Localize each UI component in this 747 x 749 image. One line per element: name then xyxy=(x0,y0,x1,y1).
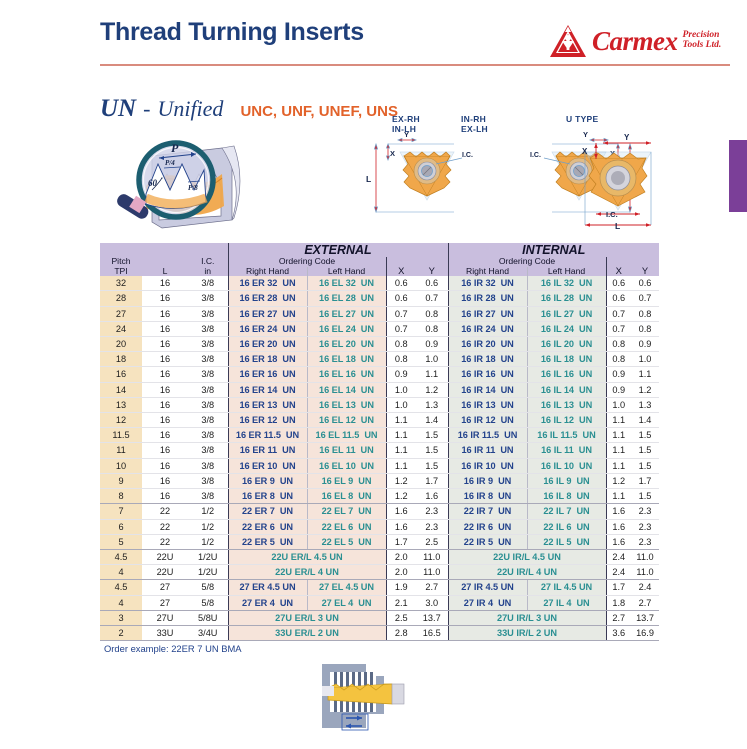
table-row: 24163/816 ER 24 UN16 EL 24 UN0.70.816 IR… xyxy=(100,321,659,336)
cell-external-left-hand: 22 EL 7 UN xyxy=(307,504,386,519)
standard-dash: - xyxy=(143,96,150,122)
table-row: 13163/816 ER 13 UN16 EL 13 UN1.01.316 IR… xyxy=(100,397,659,412)
cell-internal-y: 1.7 xyxy=(631,473,659,488)
col-header-ic: I.C. in xyxy=(188,243,228,276)
cell-internal-y: 0.6 xyxy=(631,276,659,291)
grooving-tool-holder-icon xyxy=(300,658,420,744)
cell-internal-x: 1.1 xyxy=(606,413,631,428)
cell-internal-x: 0.7 xyxy=(606,306,631,321)
cell-internal-x: 1.6 xyxy=(606,504,631,519)
cell-internal-left-hand: 16 IL 11.5 UN xyxy=(527,428,606,443)
cell-ic: 1/2 xyxy=(188,534,228,549)
table-row: 233U3/4U33U ER/L 2 UN2.816.533U IR/L 2 U… xyxy=(100,625,659,640)
svg-text:L: L xyxy=(366,174,371,184)
cell-internal-x: 2.4 xyxy=(606,549,631,564)
cell-pitch-tpi: 18 xyxy=(100,352,142,367)
cell-external-x: 0.6 xyxy=(386,291,416,306)
cell-external-right-hand: 16 ER 11.5 UN xyxy=(228,428,307,443)
cell-external-y: 0.8 xyxy=(416,321,448,336)
cell-internal-x: 0.9 xyxy=(606,367,631,382)
cell-external-ordering-code: 22U ER/L 4.5 UN xyxy=(228,549,386,564)
cell-internal-y: 0.9 xyxy=(631,337,659,352)
svg-text:P/4: P/4 xyxy=(165,159,175,167)
cell-external-x: 1.1 xyxy=(386,443,416,458)
cell-ic: 1/2U xyxy=(188,565,228,580)
cell-external-left-hand: 16 EL 13 UN xyxy=(307,397,386,412)
svg-text:°: ° xyxy=(161,178,163,183)
cell-internal-right-hand: 22 IR 5 UN xyxy=(448,534,527,549)
cell-internal-y: 1.2 xyxy=(631,382,659,397)
cell-internal-right-hand: 16 IR 16 UN xyxy=(448,367,527,382)
cell-external-left-hand: 16 EL 16 UN xyxy=(307,367,386,382)
cell-external-x: 0.8 xyxy=(386,337,416,352)
svg-text:60: 60 xyxy=(148,178,158,188)
order-example-note: Order example: 22ER 7 UN BMA xyxy=(104,643,242,654)
cell-external-y: 1.2 xyxy=(416,382,448,397)
table-row: 8163/816 ER 8 UN16 EL 8 UN1.21.616 IR 8 … xyxy=(100,489,659,504)
cell-external-left-hand: 16 EL 32 UN xyxy=(307,276,386,291)
table-row: 6221/222 ER 6 UN22 EL 6 UN1.62.322 IR 6 … xyxy=(100,519,659,534)
cell-l: 22 xyxy=(142,519,188,534)
diagram-1-title-line1: EX-RH xyxy=(392,114,420,124)
cell-internal-right-hand: 16 IR 13 UN xyxy=(448,397,527,412)
cell-internal-x: 1.1 xyxy=(606,443,631,458)
cell-external-right-hand: 22 ER 7 UN xyxy=(228,504,307,519)
cell-external-y: 2.3 xyxy=(416,504,448,519)
cell-internal-left-hand: 16 IL 16 UN xyxy=(527,367,606,382)
cell-external-y: 1.1 xyxy=(416,367,448,382)
cell-external-left-hand: 16 EL 11 UN xyxy=(307,443,386,458)
table-row: 10163/816 ER 10 UN16 EL 10 UN1.11.516 IR… xyxy=(100,458,659,473)
cell-internal-right-hand: 16 IR 28 UN xyxy=(448,291,527,306)
cell-ic: 3/8 xyxy=(188,352,228,367)
group-header-internal: INTERNAL xyxy=(448,243,659,257)
cell-internal-y: 2.7 xyxy=(631,595,659,610)
section-color-tab xyxy=(729,140,747,212)
cell-external-ordering-code: 27U ER/L 3 UN xyxy=(228,610,386,625)
cell-internal-y: 0.8 xyxy=(631,306,659,321)
cell-external-x: 1.2 xyxy=(386,489,416,504)
cell-external-y: 11.0 xyxy=(416,565,448,580)
cell-internal-y: 2.4 xyxy=(631,580,659,595)
cell-internal-y: 1.4 xyxy=(631,413,659,428)
cell-external-right-hand: 16 ER 18 UN xyxy=(228,352,307,367)
cell-l: 16 xyxy=(142,458,188,473)
cell-internal-left-hand: 27 IL 4.5 UN xyxy=(527,580,606,595)
table-row: 27163/816 ER 27 UN16 EL 27 UN0.70.816 IR… xyxy=(100,306,659,321)
cell-internal-y: 1.3 xyxy=(631,397,659,412)
cell-external-y: 0.6 xyxy=(416,276,448,291)
cell-external-y: 0.8 xyxy=(416,306,448,321)
cell-l: 27U xyxy=(142,610,188,625)
cell-ic: 1/2 xyxy=(188,504,228,519)
cell-l: 16 xyxy=(142,413,188,428)
cell-external-left-hand: 22 EL 6 UN xyxy=(307,519,386,534)
cell-external-x: 1.9 xyxy=(386,580,416,595)
cell-external-right-hand: 27 ER 4 UN xyxy=(228,595,307,610)
svg-text:Y: Y xyxy=(624,133,630,142)
page-title: Thread Turning Inserts xyxy=(100,18,364,47)
cell-pitch-tpi: 4.5 xyxy=(100,580,142,595)
cell-l: 16 xyxy=(142,489,188,504)
cell-external-right-hand: 16 ER 9 UN xyxy=(228,473,307,488)
col-header-internal-right-hand: Right Hand xyxy=(448,267,527,277)
cell-internal-left-hand: 16 IL 27 UN xyxy=(527,306,606,321)
cell-external-left-hand: 16 EL 11.5 UN xyxy=(307,428,386,443)
cell-ic: 3/8 xyxy=(188,337,228,352)
cell-internal-left-hand: 22 IL 6 UN xyxy=(527,519,606,534)
cell-external-x: 1.6 xyxy=(386,519,416,534)
cell-pitch-tpi: 7 xyxy=(100,504,142,519)
cell-pitch-tpi: 3 xyxy=(100,610,142,625)
cell-l: 16 xyxy=(142,291,188,306)
cell-internal-right-hand: 16 IR 24 UN xyxy=(448,321,527,336)
cell-ic: 3/8 xyxy=(188,382,228,397)
cell-pitch-tpi: 14 xyxy=(100,382,142,397)
cell-l: 22 xyxy=(142,534,188,549)
cell-internal-y: 2.3 xyxy=(631,534,659,549)
cell-pitch-tpi: 28 xyxy=(100,291,142,306)
cell-ic: 3/8 xyxy=(188,276,228,291)
table-row: 12163/816 ER 12 UN16 EL 12 UN1.11.416 IR… xyxy=(100,413,659,428)
diagram-3-title: U TYPE xyxy=(566,114,599,124)
cell-ic: 3/8 xyxy=(188,413,228,428)
cell-internal-left-hand: 16 IL 10 UN xyxy=(527,458,606,473)
cell-external-y: 11.0 xyxy=(416,549,448,564)
cell-pitch-tpi: 13 xyxy=(100,397,142,412)
cell-pitch-tpi: 10 xyxy=(100,458,142,473)
cell-internal-y: 1.5 xyxy=(631,443,659,458)
cell-internal-right-hand: 16 IR 10 UN xyxy=(448,458,527,473)
cell-ic: 5/8 xyxy=(188,580,228,595)
cell-external-left-hand: 16 EL 27 UN xyxy=(307,306,386,321)
cell-external-left-hand: 16 EL 28 UN xyxy=(307,291,386,306)
cell-internal-right-hand: 16 IR 27 UN xyxy=(448,306,527,321)
cell-external-x: 2.0 xyxy=(386,565,416,580)
cell-external-y: 1.3 xyxy=(416,397,448,412)
cell-internal-ordering-code: 22U IR/L 4 UN xyxy=(448,565,606,580)
cell-internal-left-hand: 16 IL 28 UN xyxy=(527,291,606,306)
cell-external-left-hand: 27 EL 4.5 UN xyxy=(307,580,386,595)
col-header-internal-left-hand: Left Hand xyxy=(527,267,606,277)
cell-internal-x: 1.0 xyxy=(606,397,631,412)
cell-internal-left-hand: 27 IL 4 UN xyxy=(527,595,606,610)
cell-external-y: 16.5 xyxy=(416,625,448,640)
cell-l: 22U xyxy=(142,565,188,580)
cell-pitch-tpi: 27 xyxy=(100,306,142,321)
cell-internal-right-hand: 16 IR 9 UN xyxy=(448,473,527,488)
cell-external-right-hand: 16 ER 8 UN xyxy=(228,489,307,504)
cell-pitch-tpi: 20 xyxy=(100,337,142,352)
cell-internal-y: 11.0 xyxy=(631,565,659,580)
page-header: Thread Turning Inserts Carmex Precision … xyxy=(100,18,730,64)
cell-external-y: 1.4 xyxy=(416,413,448,428)
cell-internal-x: 0.8 xyxy=(606,352,631,367)
table-row: 422U1/2U22U ER/L 4 UN2.011.022U IR/L 4 U… xyxy=(100,565,659,580)
cell-pitch-tpi: 9 xyxy=(100,473,142,488)
cell-external-x: 1.2 xyxy=(386,473,416,488)
cell-l: 16 xyxy=(142,306,188,321)
cell-external-left-hand: 27 EL 4 UN xyxy=(307,595,386,610)
cell-internal-right-hand: 27 IR 4.5 UN xyxy=(448,580,527,595)
cell-internal-left-hand: 16 IL 14 UN xyxy=(527,382,606,397)
col-header-internal-x: X xyxy=(606,257,631,276)
cell-external-y: 1.6 xyxy=(416,489,448,504)
table-row: 32163/816 ER 32 UN16 EL 32 UN0.60.616 IR… xyxy=(100,276,659,291)
magnifier-thread-profile-icon: P P/4 P/8 60 ° xyxy=(104,128,319,233)
cell-internal-x: 1.1 xyxy=(606,428,631,443)
table-row: 11.5163/816 ER 11.5 UN16 EL 11.5 UN1.11.… xyxy=(100,428,659,443)
cell-internal-x: 0.6 xyxy=(606,276,631,291)
cell-ic: 3/8 xyxy=(188,367,228,382)
cell-external-x: 0.7 xyxy=(386,306,416,321)
cell-external-x: 1.0 xyxy=(386,382,416,397)
cell-external-left-hand: 16 EL 10 UN xyxy=(307,458,386,473)
table-row: 18163/816 ER 18 UN16 EL 18 UN0.81.016 IR… xyxy=(100,352,659,367)
cell-external-y: 2.7 xyxy=(416,580,448,595)
cell-internal-ordering-code: 22U IR/L 4.5 UN xyxy=(448,549,606,564)
standard-code: UN xyxy=(100,95,136,123)
cell-internal-right-hand: 16 IR 18 UN xyxy=(448,352,527,367)
svg-text:I.C.: I.C. xyxy=(530,152,541,159)
cell-external-x: 2.0 xyxy=(386,549,416,564)
cell-external-left-hand: 16 EL 8 UN xyxy=(307,489,386,504)
col-header-pitch-l2: TPI xyxy=(100,267,142,277)
table-row: 4.522U1/2U22U ER/L 4.5 UN2.011.022U IR/L… xyxy=(100,549,659,564)
cell-internal-right-hand: 16 IR 8 UN xyxy=(448,489,527,504)
cell-pitch-tpi: 32 xyxy=(100,276,142,291)
col-header-ic-l2: in xyxy=(188,267,228,277)
cell-internal-left-hand: 16 IL 32 UN xyxy=(527,276,606,291)
carmex-triangle-logo-icon xyxy=(549,24,587,58)
svg-text:Y: Y xyxy=(404,130,409,139)
table-row: 11163/816 ER 11 UN16 EL 11 UN1.11.516 IR… xyxy=(100,443,659,458)
cell-pitch-tpi: 24 xyxy=(100,321,142,336)
cell-internal-y: 13.7 xyxy=(631,610,659,625)
table-row: 28163/816 ER 28 UN16 EL 28 UN0.60.716 IR… xyxy=(100,291,659,306)
col-header-l: L xyxy=(142,243,188,276)
cell-internal-right-hand: 16 IR 32 UN xyxy=(448,276,527,291)
table-body: 32163/816 ER 32 UN16 EL 32 UN0.60.616 IR… xyxy=(100,276,659,640)
table-row: 14163/816 ER 14 UN16 EL 14 UN1.01.216 IR… xyxy=(100,382,659,397)
cell-external-x: 1.1 xyxy=(386,458,416,473)
cell-internal-y: 1.0 xyxy=(631,352,659,367)
brand-tagline: Precision Tools Ltd. xyxy=(683,30,730,53)
svg-text:X: X xyxy=(390,149,395,158)
cell-l: 27 xyxy=(142,580,188,595)
cell-internal-right-hand: 16 IR 11 UN xyxy=(448,443,527,458)
cell-external-y: 1.7 xyxy=(416,473,448,488)
cell-external-y: 2.5 xyxy=(416,534,448,549)
cell-external-right-hand: 22 ER 6 UN xyxy=(228,519,307,534)
header-divider xyxy=(100,64,730,66)
cell-external-left-hand: 16 EL 18 UN xyxy=(307,352,386,367)
cell-internal-x: 3.6 xyxy=(606,625,631,640)
cell-pitch-tpi: 6 xyxy=(100,519,142,534)
standard-subtitle: UN - Unified UNC, UNF, UNEF, UNS xyxy=(100,95,398,123)
cell-external-x: 0.7 xyxy=(386,321,416,336)
cell-external-x: 2.5 xyxy=(386,610,416,625)
cell-pitch-tpi: 11.5 xyxy=(100,428,142,443)
standard-name: Unified xyxy=(157,96,223,122)
cell-external-y: 13.7 xyxy=(416,610,448,625)
cell-external-x: 2.8 xyxy=(386,625,416,640)
cell-external-right-hand: 16 ER 16 UN xyxy=(228,367,307,382)
cell-ic: 3/8 xyxy=(188,397,228,412)
table-row: 16163/816 ER 16 UN16 EL 16 UN0.91.116 IR… xyxy=(100,367,659,382)
cell-internal-right-hand: 27 IR 4 UN xyxy=(448,595,527,610)
col-header-external-right-hand: Right Hand xyxy=(228,267,307,277)
cell-external-y: 3.0 xyxy=(416,595,448,610)
cell-external-y: 0.7 xyxy=(416,291,448,306)
cell-l: 16 xyxy=(142,397,188,412)
cell-external-x: 2.1 xyxy=(386,595,416,610)
cell-external-right-hand: 16 ER 32 UN xyxy=(228,276,307,291)
cell-internal-left-hand: 16 IL 11 UN xyxy=(527,443,606,458)
col-header-external-y: Y xyxy=(416,257,448,276)
cell-l: 16 xyxy=(142,321,188,336)
svg-text:L: L xyxy=(615,221,620,231)
cell-internal-y: 1.1 xyxy=(631,367,659,382)
cell-internal-x: 1.6 xyxy=(606,534,631,549)
cell-external-x: 0.9 xyxy=(386,367,416,382)
cell-external-left-hand: 16 EL 9 UN xyxy=(307,473,386,488)
cell-internal-ordering-code: 33U IR/L 2 UN xyxy=(448,625,606,640)
cell-internal-x: 0.7 xyxy=(606,321,631,336)
cell-pitch-tpi: 4.5 xyxy=(100,549,142,564)
table-row: 20163/816 ER 20 UN16 EL 20 UN0.80.916 IR… xyxy=(100,337,659,352)
cell-internal-x: 1.6 xyxy=(606,519,631,534)
cell-l: 16 xyxy=(142,428,188,443)
cell-external-right-hand: 27 ER 4.5 UN xyxy=(228,580,307,595)
cell-internal-y: 11.0 xyxy=(631,549,659,564)
cell-l: 33U xyxy=(142,625,188,640)
svg-text:I.C.: I.C. xyxy=(462,152,473,159)
cell-internal-right-hand: 16 IR 20 UN xyxy=(448,337,527,352)
table-row: 4.5275/827 ER 4.5 UN27 EL 4.5 UN1.92.727… xyxy=(100,580,659,595)
cell-external-x: 1.1 xyxy=(386,428,416,443)
cell-internal-x: 0.9 xyxy=(606,382,631,397)
cell-external-left-hand: 16 EL 12 UN xyxy=(307,413,386,428)
cell-internal-right-hand: 16 IR 11.5 UN xyxy=(448,428,527,443)
cell-internal-ordering-code: 27U IR/L 3 UN xyxy=(448,610,606,625)
table-row: 7221/222 ER 7 UN22 EL 7 UN1.62.322 IR 7 … xyxy=(100,504,659,519)
cell-l: 22U xyxy=(142,549,188,564)
table-row: 9163/816 ER 9 UN16 EL 9 UN1.21.716 IR 9 … xyxy=(100,473,659,488)
cell-pitch-tpi: 4 xyxy=(100,565,142,580)
cell-pitch-tpi: 12 xyxy=(100,413,142,428)
cell-external-right-hand: 16 ER 14 UN xyxy=(228,382,307,397)
cell-ic: 3/8 xyxy=(188,473,228,488)
cell-external-right-hand: 16 ER 12 UN xyxy=(228,413,307,428)
col-header-external-x: X xyxy=(386,257,416,276)
cell-external-y: 2.3 xyxy=(416,519,448,534)
cell-pitch-tpi: 4 xyxy=(100,595,142,610)
col-header-internal-y: Y xyxy=(631,257,659,276)
cell-internal-left-hand: 16 IL 12 UN xyxy=(527,413,606,428)
cell-external-left-hand: 16 EL 24 UN xyxy=(307,321,386,336)
cell-internal-y: 2.3 xyxy=(631,519,659,534)
cell-l: 22 xyxy=(142,504,188,519)
cell-external-y: 1.5 xyxy=(416,443,448,458)
cell-ic: 1/2U xyxy=(188,549,228,564)
cell-external-right-hand: 16 ER 11 UN xyxy=(228,443,307,458)
cell-internal-left-hand: 16 IL 8 UN xyxy=(527,489,606,504)
cell-internal-y: 16.9 xyxy=(631,625,659,640)
cell-l: 16 xyxy=(142,367,188,382)
cell-internal-x: 1.7 xyxy=(606,580,631,595)
cell-internal-right-hand: 22 IR 6 UN xyxy=(448,519,527,534)
table-row: 5221/222 ER 5 UN22 EL 5 UN1.72.522 IR 5 … xyxy=(100,534,659,549)
cell-ic: 3/8 xyxy=(188,306,228,321)
cell-ic: 5/8U xyxy=(188,610,228,625)
cell-internal-left-hand: 22 IL 5 UN xyxy=(527,534,606,549)
group-header-external: EXTERNAL xyxy=(228,243,448,257)
cell-internal-y: 1.5 xyxy=(631,458,659,473)
col-header-pitch: Pitch TPI xyxy=(100,243,142,276)
cell-internal-left-hand: 16 IL 13 UN xyxy=(527,397,606,412)
cell-internal-x: 1.8 xyxy=(606,595,631,610)
cell-internal-y: 1.5 xyxy=(631,428,659,443)
cell-pitch-tpi: 8 xyxy=(100,489,142,504)
cell-external-ordering-code: 22U ER/L 4 UN xyxy=(228,565,386,580)
table-header: Pitch TPI L I.C. in EXTERNAL INTERNAL Or… xyxy=(100,243,659,276)
cell-internal-right-hand: 22 IR 7 UN xyxy=(448,504,527,519)
cell-pitch-tpi: 11 xyxy=(100,443,142,458)
svg-text:I.C.: I.C. xyxy=(606,210,618,219)
cell-internal-x: 1.1 xyxy=(606,458,631,473)
cell-external-right-hand: 16 ER 24 UN xyxy=(228,321,307,336)
svg-text:P: P xyxy=(171,141,179,155)
cell-external-y: 1.5 xyxy=(416,428,448,443)
insert-u-type-icon: Y X I.C. L xyxy=(560,126,672,231)
cell-external-right-hand: 22 ER 5 UN xyxy=(228,534,307,549)
cell-external-left-hand: 22 EL 5 UN xyxy=(307,534,386,549)
cell-pitch-tpi: 16 xyxy=(100,367,142,382)
cell-internal-left-hand: 22 IL 7 UN xyxy=(527,504,606,519)
col-header-external-left-hand: Left Hand xyxy=(307,267,386,277)
cell-l: 27 xyxy=(142,595,188,610)
cell-ic: 3/8 xyxy=(188,428,228,443)
cell-external-right-hand: 16 ER 28 UN xyxy=(228,291,307,306)
cell-internal-x: 0.8 xyxy=(606,337,631,352)
cell-pitch-tpi: 2 xyxy=(100,625,142,640)
cell-ic: 3/8 xyxy=(188,291,228,306)
cell-internal-right-hand: 16 IR 12 UN xyxy=(448,413,527,428)
cell-external-right-hand: 16 ER 10 UN xyxy=(228,458,307,473)
cell-internal-left-hand: 16 IL 20 UN xyxy=(527,337,606,352)
cell-external-y: 1.0 xyxy=(416,352,448,367)
cell-external-left-hand: 16 EL 14 UN xyxy=(307,382,386,397)
cell-pitch-tpi: 5 xyxy=(100,534,142,549)
cell-internal-right-hand: 16 IR 14 UN xyxy=(448,382,527,397)
cell-ic: 5/8 xyxy=(188,595,228,610)
cell-internal-left-hand: 16 IL 9 UN xyxy=(527,473,606,488)
table-row: 327U5/8U27U ER/L 3 UN2.513.727U IR/L 3 U… xyxy=(100,610,659,625)
cell-internal-x: 2.4 xyxy=(606,565,631,580)
cell-internal-y: 0.8 xyxy=(631,321,659,336)
cell-external-y: 1.5 xyxy=(416,458,448,473)
cell-l: 16 xyxy=(142,352,188,367)
cell-external-x: 0.8 xyxy=(386,352,416,367)
cell-ic: 3/8 xyxy=(188,489,228,504)
cell-external-right-hand: 16 ER 13 UN xyxy=(228,397,307,412)
cell-internal-left-hand: 16 IL 24 UN xyxy=(527,321,606,336)
cell-external-y: 0.9 xyxy=(416,337,448,352)
cell-internal-x: 2.7 xyxy=(606,610,631,625)
diagram-2-title-line1: IN-RH xyxy=(461,114,486,124)
cell-external-x: 1.6 xyxy=(386,504,416,519)
